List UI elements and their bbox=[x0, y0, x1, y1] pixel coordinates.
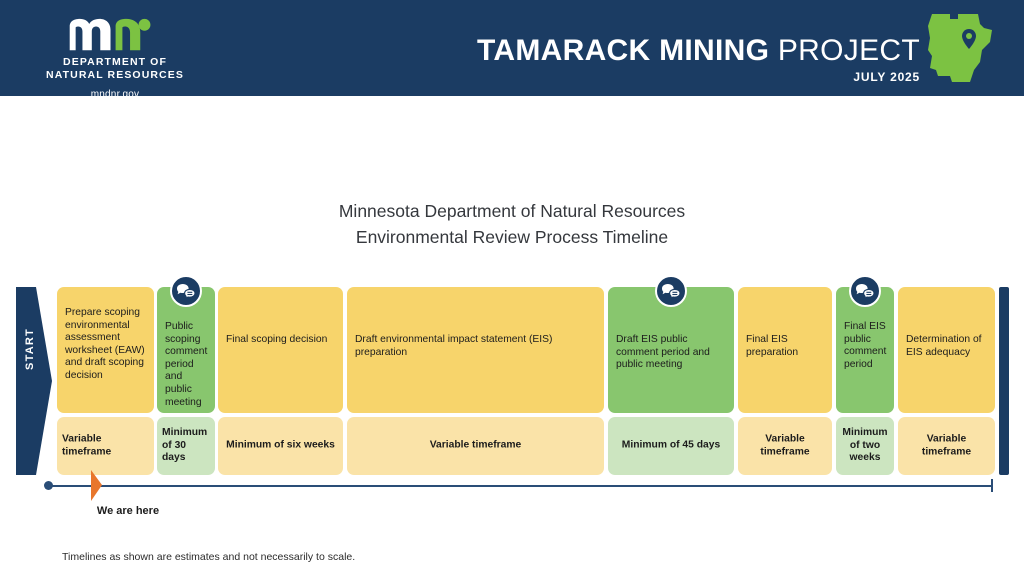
timeline-stage[interactable]: Determination of EIS adequacyVariable ti… bbox=[898, 287, 995, 475]
mn-logo-icon bbox=[68, 18, 162, 52]
public-comment-speech-bubble-icon bbox=[655, 275, 687, 307]
stage-phase-box: Prepare scoping environmental assessment… bbox=[57, 287, 154, 413]
stage-duration-box: Minimum of 30 days bbox=[157, 417, 215, 475]
minnesota-state-map-icon bbox=[922, 12, 1006, 92]
page-date: JULY 2025 bbox=[430, 70, 920, 84]
process-timeline: START Prepare scoping environmental asse… bbox=[0, 283, 1024, 479]
stage-duration-box: Variable timeframe bbox=[898, 417, 995, 475]
timeline-end-bar bbox=[999, 287, 1009, 475]
stage-phase-box: Determination of EIS adequacy bbox=[898, 287, 995, 413]
start-label: START bbox=[24, 314, 36, 384]
axis-end-tick bbox=[991, 479, 993, 492]
stage-label: Prepare scoping environmental assessment… bbox=[65, 307, 148, 383]
stage-duration-box: Minimum of six weeks bbox=[218, 417, 343, 475]
stage-phase-box: Public scoping comment period and public… bbox=[157, 287, 215, 413]
timeline-stage[interactable]: Public scoping comment period and public… bbox=[157, 287, 215, 475]
stage-phase-box: Draft EIS public comment period and publ… bbox=[608, 287, 734, 413]
public-comment-speech-bubble-icon bbox=[849, 275, 881, 307]
stage-duration-box: Minimum of two weeks bbox=[836, 417, 894, 475]
public-comment-speech-bubble-icon bbox=[170, 275, 202, 307]
agency-resources-line: NATURAL RESOURCES bbox=[20, 69, 210, 82]
timeline-stage[interactable]: Prepare scoping environmental assessment… bbox=[57, 287, 154, 475]
timeline-heading: Minnesota Department of Natural Resource… bbox=[0, 198, 1024, 250]
page-title: TAMARACK MINING PROJECT bbox=[430, 34, 920, 68]
page-header: DEPARTMENT OF NATURAL RESOURCES mndnr.go… bbox=[0, 0, 1024, 96]
stage-label: Final EIS preparation bbox=[746, 334, 826, 359]
timeline-stage[interactable]: Draft environmental impact statement (EI… bbox=[347, 287, 604, 475]
stage-duration-label: Minimum of six weeks bbox=[223, 440, 338, 453]
stage-duration-label: Variable timeframe bbox=[903, 433, 990, 458]
we-are-here-label: We are here bbox=[48, 505, 208, 517]
page-title-bold: TAMARACK MINING bbox=[477, 34, 769, 67]
stage-duration-label: Variable timeframe bbox=[352, 440, 599, 453]
stage-duration-label: Minimum of 30 days bbox=[162, 427, 210, 465]
timeline-stage[interactable]: Final EIS public comment periodMinimum o… bbox=[836, 287, 894, 475]
stage-duration-box: Variable timeframe bbox=[347, 417, 604, 475]
agency-website[interactable]: mndnr.gov bbox=[20, 89, 210, 100]
we-are-here-marker-icon bbox=[88, 470, 106, 502]
stage-phase-box: Final EIS public comment period bbox=[836, 287, 894, 413]
page-title-light: PROJECT bbox=[778, 34, 920, 67]
agency-name: DEPARTMENT OF NATURAL RESOURCES bbox=[20, 56, 210, 82]
stage-label: Final scoping decision bbox=[226, 334, 337, 347]
stage-duration-label: Variable timeframe bbox=[743, 433, 827, 458]
stage-duration-box: Variable timeframe bbox=[738, 417, 832, 475]
stage-label: Public scoping comment period and public… bbox=[165, 321, 209, 409]
timeline-heading-line1: Minnesota Department of Natural Resource… bbox=[0, 198, 1024, 224]
dnr-logo-block: DEPARTMENT OF NATURAL RESOURCES mndnr.go… bbox=[20, 18, 210, 100]
stage-phase-box: Final EIS preparation bbox=[738, 287, 832, 413]
timeline-heading-line2: Environmental Review Process Timeline bbox=[0, 224, 1024, 250]
timeline-footnote: Timelines as shown are estimates and not… bbox=[62, 551, 355, 563]
axis-line bbox=[48, 485, 993, 487]
stage-label: Draft environmental impact statement (EI… bbox=[355, 334, 598, 359]
stage-phase-box: Final scoping decision bbox=[218, 287, 343, 413]
stage-duration-box: Variable timeframe bbox=[57, 417, 154, 475]
stage-label: Determination of EIS adequacy bbox=[906, 334, 989, 359]
stage-duration-label: Variable timeframe bbox=[62, 433, 149, 458]
stage-label: Final EIS public comment period bbox=[844, 321, 888, 371]
stage-duration-box: Minimum of 45 days bbox=[608, 417, 734, 475]
timeline-stage[interactable]: Final scoping decisionMinimum of six wee… bbox=[218, 287, 343, 475]
agency-dept-line: DEPARTMENT OF bbox=[20, 56, 210, 69]
stage-duration-label: Minimum of 45 days bbox=[613, 440, 729, 453]
stage-label: Draft EIS public comment period and publ… bbox=[616, 334, 728, 372]
timeline-stage[interactable]: Draft EIS public comment period and publ… bbox=[608, 287, 734, 475]
stage-phase-box: Draft environmental impact statement (EI… bbox=[347, 287, 604, 413]
stage-duration-label: Minimum of two weeks bbox=[841, 427, 889, 465]
timeline-stage[interactable]: Final EIS preparationVariable timeframe bbox=[738, 287, 832, 475]
